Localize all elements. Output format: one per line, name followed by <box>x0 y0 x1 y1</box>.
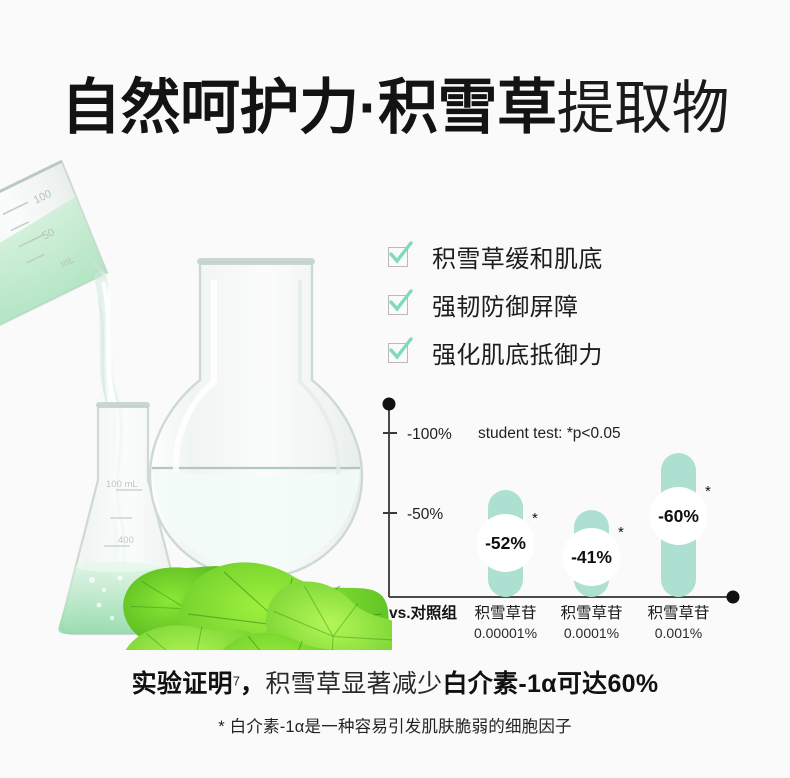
conclusion-superscript: 7 <box>233 674 240 689</box>
svg-text:400: 400 <box>118 535 134 546</box>
promo-infographic-page: 自然呵护力·积雪草提取物 <box>0 0 790 778</box>
page-title: 自然呵护力·积雪草提取物 <box>0 78 790 138</box>
checkbox-check-icon <box>388 245 410 267</box>
page-title-light: 提取物 <box>556 76 729 141</box>
checkbox-check-icon <box>388 341 410 363</box>
list-item: 积雪草缓和肌底 <box>388 232 728 280</box>
page-title-strong: 自然呵护力·积雪草 <box>61 74 556 141</box>
bar-2-value-label: -41% <box>571 547 612 567</box>
beaker-icon: 100 50 mL <box>0 161 114 337</box>
bar-group-1: -52% * <box>477 490 539 597</box>
conclusion-part-c: 白介素-1α可达60% <box>442 670 658 698</box>
checkbox-check-icon <box>388 293 410 315</box>
list-item-label: 强化肌底抵御力 <box>432 335 603 370</box>
bar-group-2: -41% * <box>563 510 625 597</box>
bar-group-3: -60% * <box>650 453 712 597</box>
conclusion-comma: ， <box>240 670 265 698</box>
y-tick-label-100: -100% <box>407 426 452 443</box>
list-item: 强化肌底抵御力 <box>388 328 728 376</box>
beaker-pouring-into-flask-with-centella-leaves-illustration: 100 50 mL <box>0 150 392 650</box>
list-item-label: 积雪草缓和肌底 <box>432 239 603 274</box>
hero-illustration: 100 50 mL <box>0 150 392 650</box>
il1a-reduction-bar-chart: -100% -50% student test: *p<0.05 -52% * … <box>378 396 748 646</box>
bar-1-significance-mark: * <box>532 510 538 527</box>
bar-2-significance-mark: * <box>618 524 624 541</box>
y-tick-label-50: -50% <box>407 506 443 523</box>
x-category-2: 积雪草苷 <box>560 604 622 622</box>
x-category-1: 积雪草苷 <box>474 604 536 622</box>
list-item: 强韧防御屏障 <box>388 280 728 328</box>
x-category-1-sub: 0.00001% <box>474 625 537 641</box>
x-category-3-sub: 0.001% <box>655 625 702 641</box>
y-axis-endpoint-dot <box>383 398 396 411</box>
x-axis-endpoint-dot <box>727 591 740 604</box>
conclusion-line: 实验证明7，积雪草显著减少白介素-1α可达60% <box>0 672 790 697</box>
bar-3-value-label: -60% <box>658 506 699 526</box>
x-category-2-sub: 0.0001% <box>564 625 619 641</box>
round-bottom-flask-icon <box>150 258 362 578</box>
bar-3-significance-mark: * <box>705 483 711 500</box>
x-category-3: 积雪草苷 <box>647 604 709 622</box>
conclusion-part-light: 积雪草显著减少 <box>265 670 442 698</box>
chart-annotation: student test: *p<0.05 <box>478 425 621 442</box>
chart-baseline-label: vs.对照组 <box>389 603 458 622</box>
benefit-list: 积雪草缓和肌底 强韧防御屏障 强化肌底抵御力 <box>388 232 728 376</box>
bar-1-value-label: -52% <box>485 533 526 553</box>
footnote: * 白介素-1α是一种容易引发肌肤脆弱的细胞因子 <box>0 713 790 737</box>
conclusion-part-a: 实验证明 <box>132 670 233 698</box>
svg-text:100 mL: 100 mL <box>106 479 138 490</box>
list-item-label: 强韧防御屏障 <box>432 287 578 322</box>
